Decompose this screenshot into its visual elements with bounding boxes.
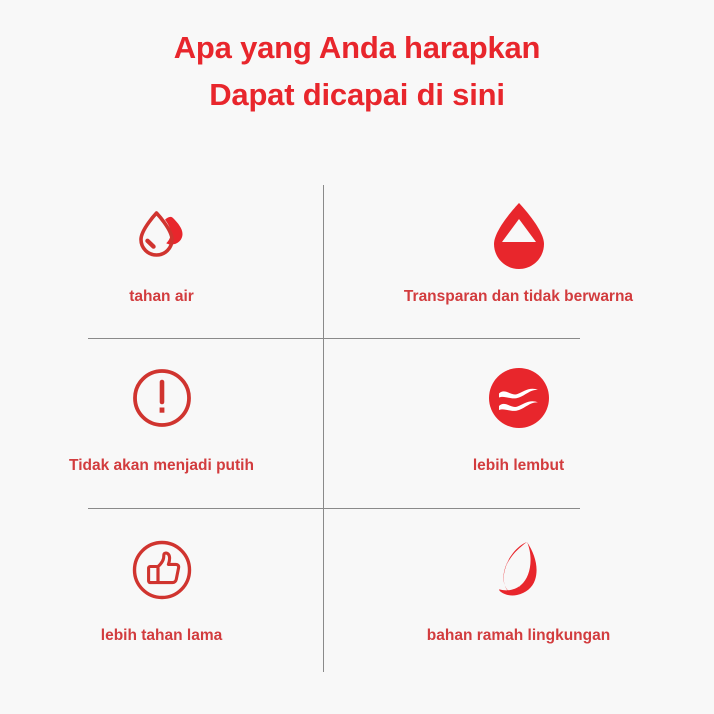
- leaf-icon: [480, 534, 558, 606]
- feature-label: tahan air: [129, 287, 194, 306]
- feature-cell-tahan-air: tahan air: [0, 185, 323, 338]
- feature-cell-lebih-lembut: lebih lembut: [323, 338, 714, 508]
- feature-label: lebih tahan lama: [101, 626, 222, 645]
- feature-grid: tahan air Transparan dan tidak berwarna: [0, 185, 714, 680]
- feature-cell-ramah-lingkungan: bahan ramah lingkungan: [323, 508, 714, 680]
- feature-cell-transparan: Transparan dan tidak berwarna: [323, 185, 714, 338]
- thumbs-up-circle-icon: [123, 534, 201, 606]
- water-drop-filled-icon: [480, 199, 558, 271]
- feature-label: Tidak akan menjadi putih: [69, 456, 254, 475]
- feature-cell-tidak-putih: Tidak akan menjadi putih: [0, 338, 323, 508]
- water-drop-outline-icon: [123, 199, 201, 271]
- feature-label: bahan ramah lingkungan: [427, 626, 610, 645]
- feature-label: Transparan dan tidak berwarna: [404, 287, 633, 306]
- infographic-page: Apa yang Anda harapkan Dapat dicapai di …: [0, 0, 714, 714]
- exclamation-circle-icon: [123, 362, 201, 434]
- page-title-line-2: Dapat dicapai di sini: [0, 71, 714, 118]
- feature-cell-lebih-tahan-lama: lebih tahan lama: [0, 508, 323, 680]
- wave-circle-icon: [480, 362, 558, 434]
- feature-label: lebih lembut: [473, 456, 564, 475]
- page-title-line-1: Apa yang Anda harapkan: [0, 24, 714, 71]
- page-title: Apa yang Anda harapkan Dapat dicapai di …: [0, 24, 714, 118]
